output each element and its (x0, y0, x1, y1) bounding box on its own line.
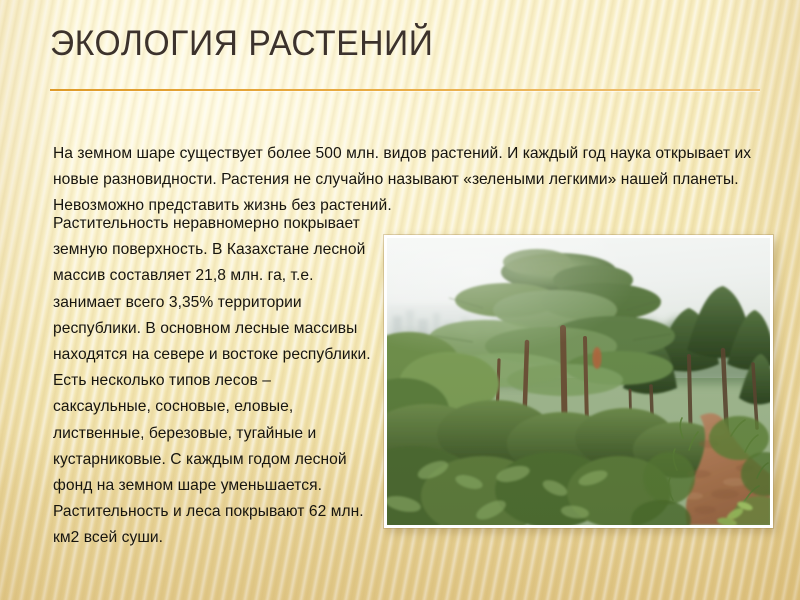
title-divider-rule (50, 89, 760, 91)
forest-photo (387, 238, 770, 525)
photo-frame (384, 235, 773, 528)
slide: ЭКОЛОГИЯ РАСТЕНИЙ На земном шаре существ… (0, 0, 800, 600)
title-zone: ЭКОЛОГИЯ РАСТЕНИЙ (50, 22, 760, 66)
intro-paragraph: На земном шаре существует более 500 млн.… (53, 141, 779, 219)
body-paragraph: Растительность неравномерно покрывает зе… (53, 211, 371, 552)
forest-photo-artwork (387, 238, 770, 525)
page-title: ЭКОЛОГИЯ РАСТЕНИЙ (50, 22, 732, 66)
